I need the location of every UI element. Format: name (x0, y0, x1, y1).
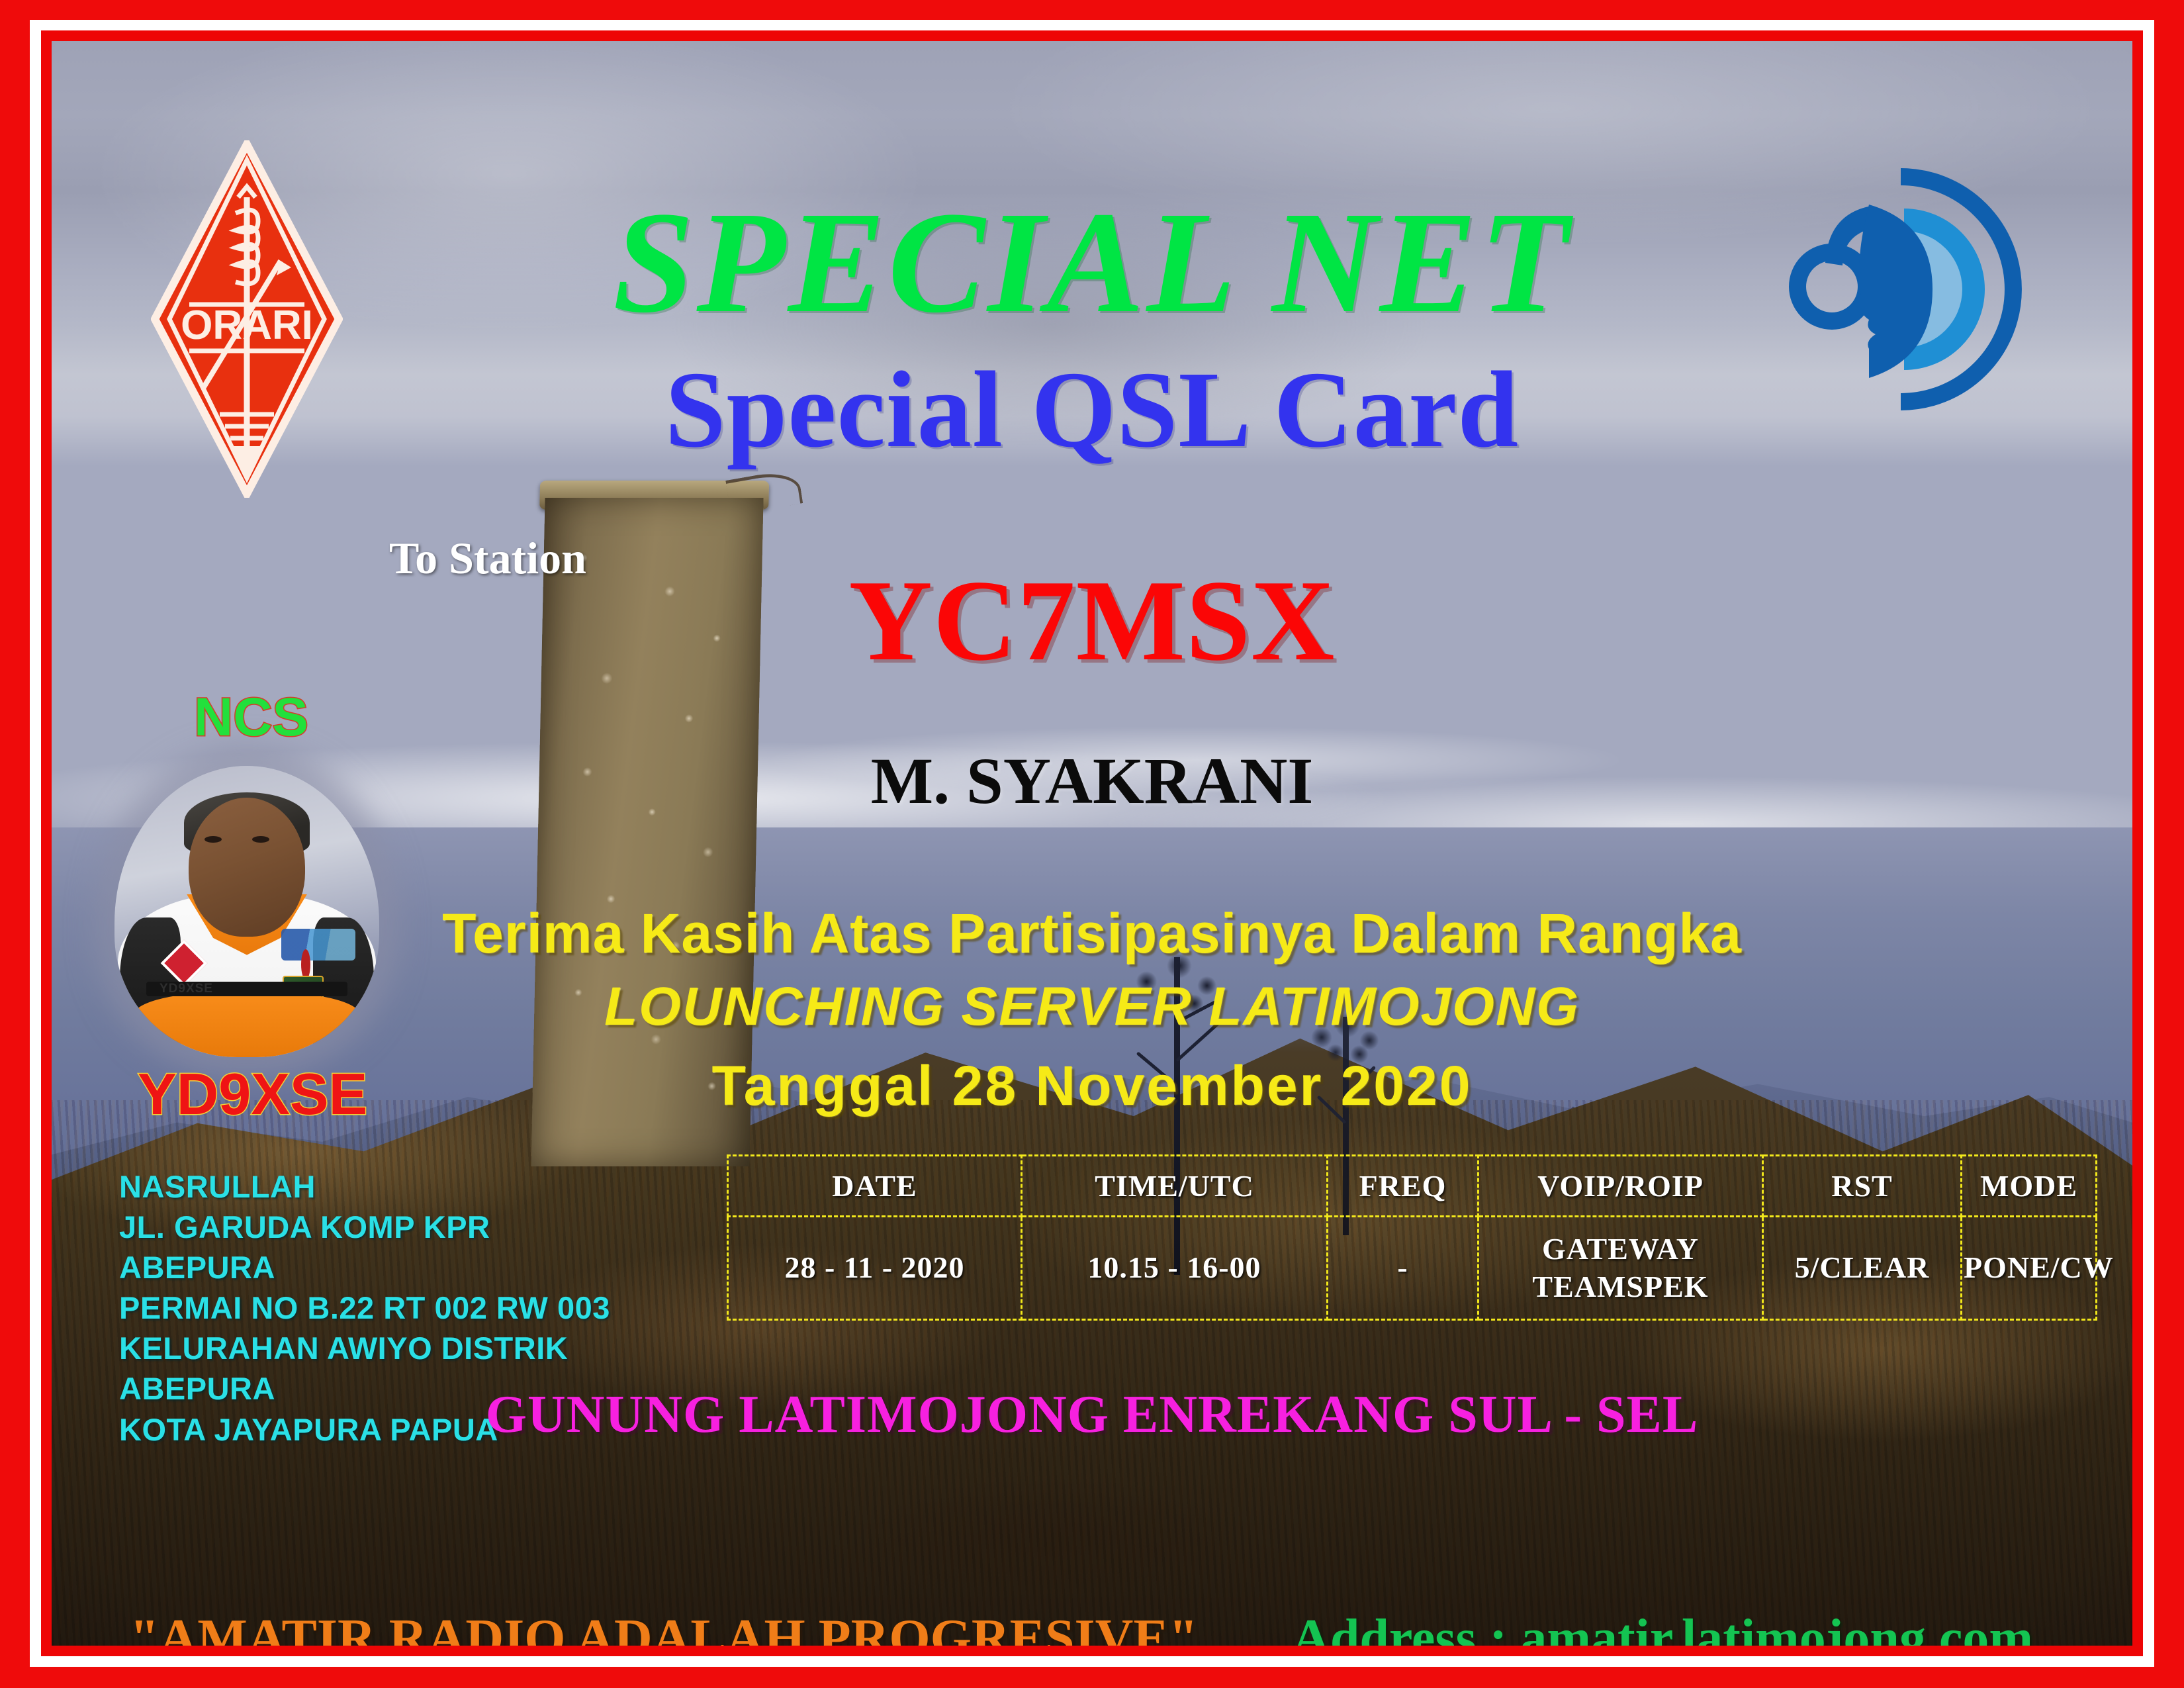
title-special-qsl-card: Special QSL Card (665, 347, 1519, 473)
event-date: Tanggal 28 November 2020 (712, 1054, 1473, 1118)
cell-freq: - (1328, 1217, 1479, 1320)
cell-voip-line2: TEAMSPEK (1480, 1268, 1760, 1305)
col-header-date: DATE (728, 1156, 1022, 1217)
cell-voip-line1: GATEWAY (1480, 1231, 1760, 1268)
portrait-shoulder-patch (281, 929, 355, 961)
address-line: JL. GARUDA KOMP KPR (119, 1207, 610, 1247)
cell-rst: 5/CLEAR (1763, 1217, 1962, 1320)
address-line: NASRULLAH (119, 1166, 610, 1207)
col-header-mode: MODE (1962, 1156, 2097, 1217)
operator-name: M. SYAKRANI (871, 743, 1314, 819)
location-line: GUNUNG LATIMOJONG ENREKANG SUL - SEL (486, 1385, 1699, 1445)
portrait-face (189, 798, 305, 937)
ncs-operator-photo: YD9XSE (114, 766, 379, 1057)
portrait-eye-left (205, 836, 222, 843)
orari-logo-text: ORARI (181, 303, 313, 348)
address-line: KELURAHAN AWIYO DISTRIK (119, 1328, 610, 1368)
portrait-uniform-callsign: YD9XSE (159, 982, 213, 996)
cell-date: 28 - 11 - 2020 (728, 1217, 1022, 1320)
ncs-callsign: YD9XSE (138, 1060, 367, 1128)
cell-voip: GATEWAY TEAMSPEK (1479, 1217, 1763, 1320)
table-row: 28 - 11 - 2020 10.15 - 16-00 - GATEWAY T… (728, 1217, 2097, 1320)
col-header-time: TIME/UTC (1022, 1156, 1328, 1217)
to-station-label: To Station (389, 532, 586, 585)
ncs-label: NCS (194, 686, 308, 749)
cell-time: 10.15 - 16-00 (1022, 1217, 1328, 1320)
event-name: LOUNCHING SERVER LATIMOJONG (604, 976, 1580, 1038)
col-header-voip: VOIP/ROIP (1479, 1156, 1763, 1217)
motto-text: "AMATIR RADIO ADALAH PROGRESIVE" (130, 1609, 1198, 1646)
station-callsign: YC7MSX (848, 554, 1335, 687)
telecom-headset-logo (1768, 157, 2033, 422)
address-line: ABEPURA (119, 1247, 610, 1288)
col-header-freq: FREQ (1328, 1156, 1479, 1217)
address-line: PERMAI NO B.22 RT 002 RW 003 (119, 1288, 610, 1328)
table-header-row: DATE TIME/UTC FREQ VOIP/ROIP RST MODE (728, 1156, 2097, 1217)
col-header-rst: RST (1763, 1156, 1962, 1217)
orari-logo: ORARI (151, 140, 343, 498)
thanks-message: Terima Kasih Atas Partisipasinya Dalam R… (442, 902, 1742, 966)
website-address: Address : amatir.latimojong.com (1292, 1609, 2033, 1646)
qsl-card: ORARI (0, 0, 2184, 1688)
qso-log-table: DATE TIME/UTC FREQ VOIP/ROIP RST MODE 28… (727, 1154, 2097, 1321)
cell-mode: PONE/CW (1962, 1217, 2097, 1320)
card-background-photo: ORARI (52, 41, 2132, 1646)
portrait-eye-right (252, 836, 269, 843)
title-special-net: SPECIAL NET (613, 179, 1571, 346)
portrait-sash (133, 993, 361, 1057)
